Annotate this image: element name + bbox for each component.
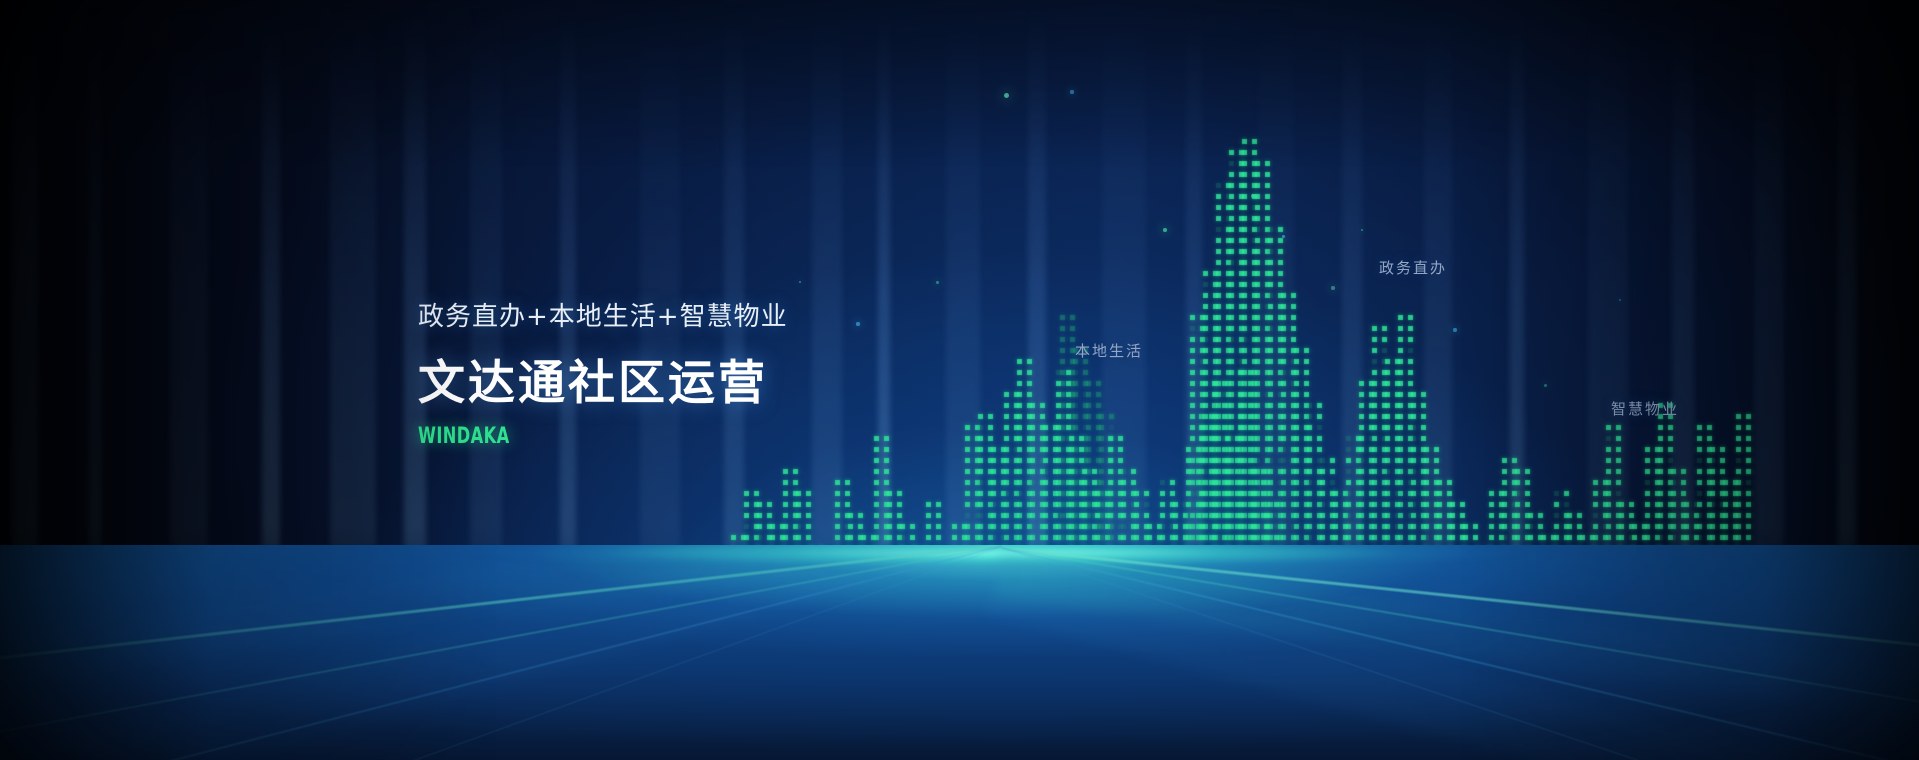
sparkle-dot xyxy=(1361,229,1364,232)
perspective-ray xyxy=(1001,547,1919,760)
road-band xyxy=(0,545,1002,726)
banner-subtitle: 政务直办+本地生活+智慧物业 xyxy=(418,296,788,333)
light-column xyxy=(330,0,376,640)
sparkle-dot xyxy=(1331,286,1335,290)
sparkle-dot xyxy=(856,322,859,325)
perspective-ray xyxy=(1002,547,1919,747)
light-column xyxy=(1510,0,1524,640)
road-band xyxy=(995,545,1919,760)
light-column xyxy=(1424,0,1452,640)
light-column xyxy=(262,0,280,640)
sparkle-dot xyxy=(1004,93,1009,98)
light-column xyxy=(1258,0,1294,640)
skyline-label-3: 智慧物业 xyxy=(1611,398,1679,419)
perspective-ray xyxy=(0,545,1002,760)
sparkle-dot xyxy=(1282,235,1285,238)
light-column xyxy=(1754,0,1784,640)
sparkle-dot xyxy=(1070,90,1073,93)
hero-banner: 本地生活政务直办智慧物业 政务直办+本地生活+智慧物业 文达通社区运营 WIND… xyxy=(0,0,1919,760)
light-column xyxy=(878,0,890,640)
horizon-glow xyxy=(0,545,1919,571)
sparkle-dot xyxy=(936,281,939,284)
light-column xyxy=(812,0,842,640)
light-column xyxy=(1588,0,1628,640)
light-column xyxy=(1186,0,1202,640)
light-column xyxy=(1342,0,1362,640)
sparkle-dot xyxy=(1544,384,1547,387)
perspective-floor xyxy=(0,545,1919,760)
light-column xyxy=(1102,0,1146,640)
sparkle-dot xyxy=(1619,299,1622,302)
banner-title: 文达通社区运营 xyxy=(418,344,788,413)
brand-wordmark: WINDAKA xyxy=(418,424,721,449)
light-column xyxy=(946,0,980,640)
light-column xyxy=(88,0,102,640)
sparkle-dot xyxy=(1453,328,1456,331)
light-column xyxy=(1672,0,1694,640)
road-band xyxy=(0,545,1002,760)
sparkle-dot xyxy=(799,281,802,284)
road-band xyxy=(984,545,1919,760)
light-column xyxy=(12,0,38,640)
light-column xyxy=(1028,0,1046,640)
headline-block: 政务直办+本地生活+智慧物业 文达通社区运营 WINDAKA xyxy=(418,296,788,449)
light-column xyxy=(1838,0,1856,640)
perspective-ray xyxy=(1002,547,1919,760)
perspective-ray xyxy=(0,546,1002,760)
skyline-label-2: 政务直办 xyxy=(1379,257,1447,278)
skyline-label-1: 本地生活 xyxy=(1075,340,1143,361)
sparkle-dot xyxy=(1163,228,1167,232)
light-column xyxy=(170,0,208,640)
sparkle-dot xyxy=(1251,194,1255,198)
perspective-ray xyxy=(0,545,1002,760)
